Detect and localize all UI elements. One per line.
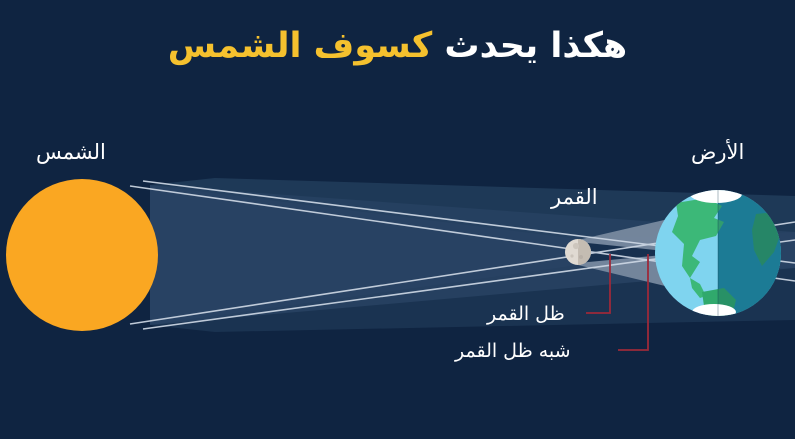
label-sun: الشمس (36, 140, 106, 164)
title-part-white: هكذا يحدث (444, 26, 627, 66)
sun-body (6, 179, 158, 331)
label-umbra: ظل القمر (487, 303, 565, 325)
label-moon: القمر (551, 185, 598, 209)
label-earth: الأرض (691, 140, 744, 164)
eclipse-infographic: هكذا يحدث كسوف الشمس الشمس الأرض القمر ظ… (0, 0, 795, 439)
title-part-gold: كسوف الشمس (168, 26, 432, 66)
label-penumbra: شبه ظل القمر (455, 340, 571, 362)
page-title: هكذا يحدث كسوف الشمس (0, 26, 795, 66)
